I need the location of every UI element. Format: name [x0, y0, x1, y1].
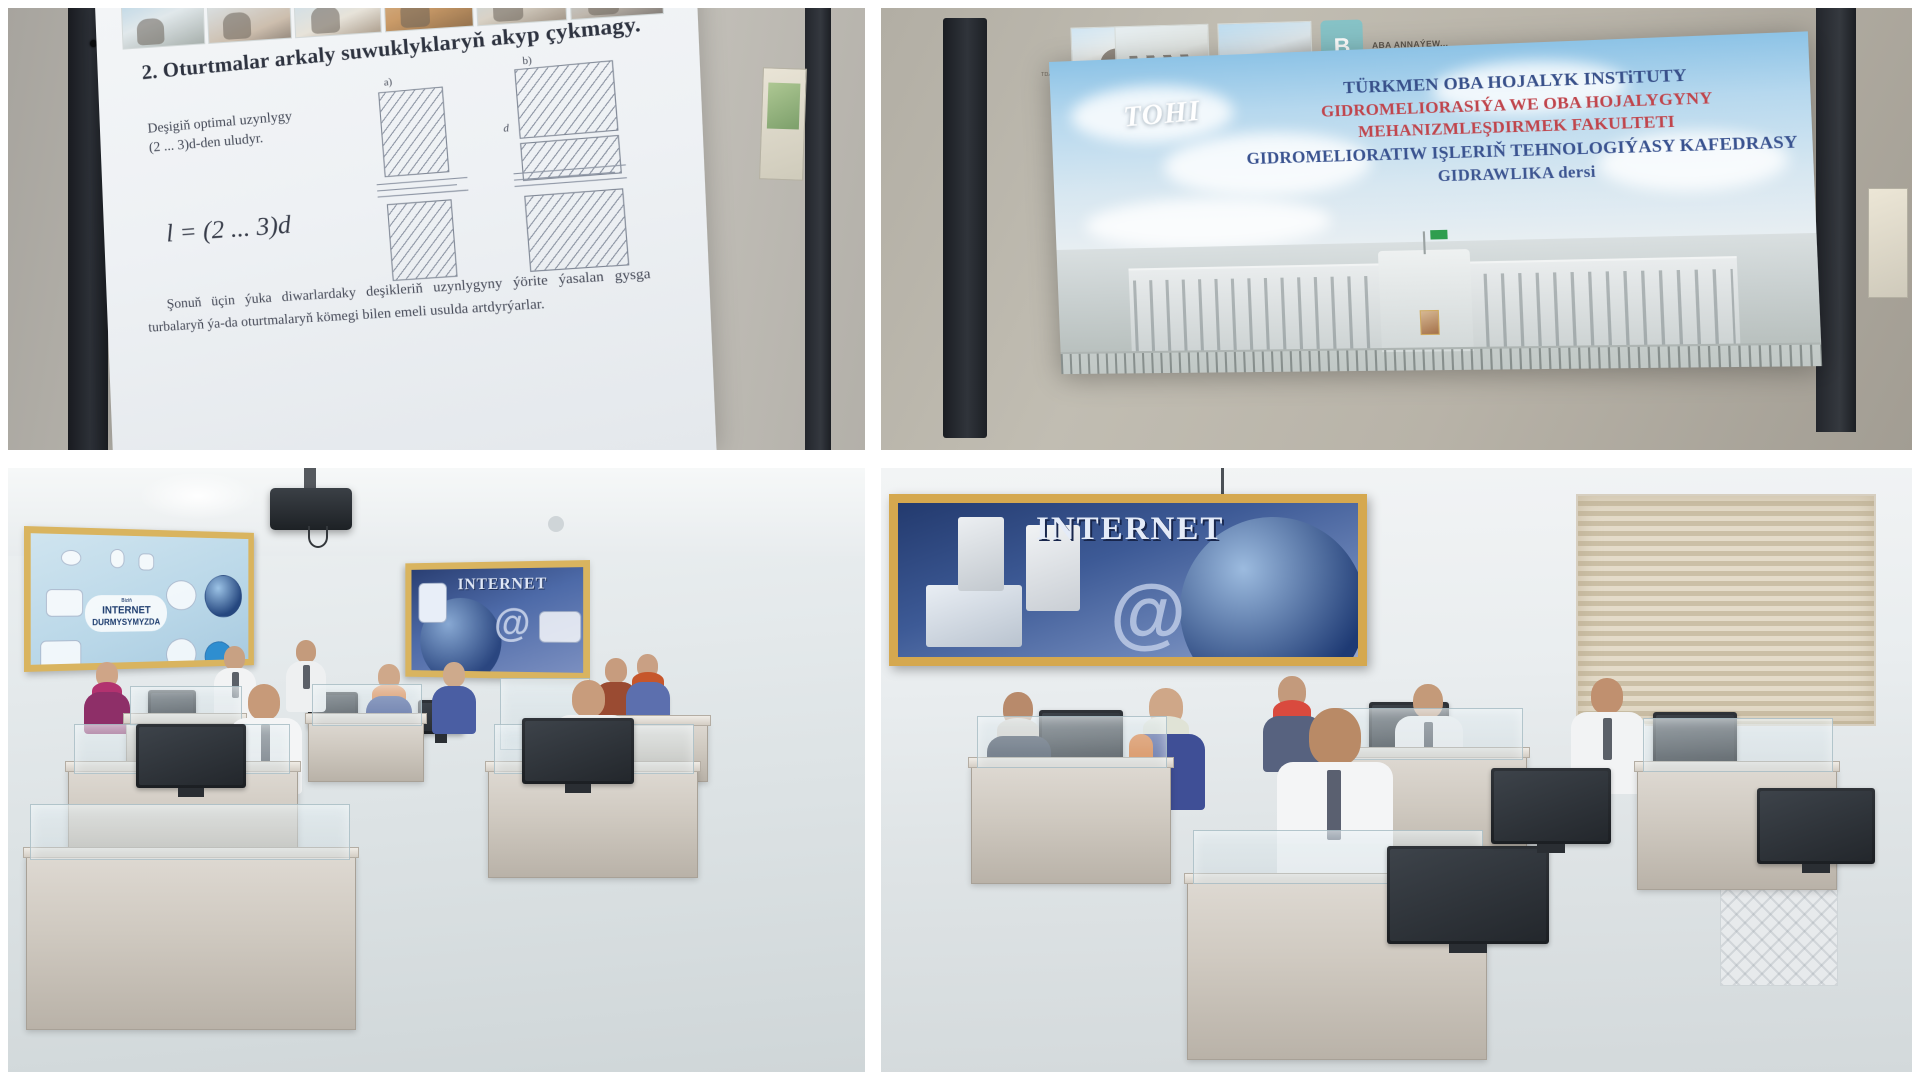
figure-hatch-block [378, 87, 449, 178]
video-tile [294, 8, 382, 38]
poster-heading: INTERNET [458, 574, 548, 594]
photo-classroom-wide: Biziň INTERNET DURMYSYMYZDA @ INTERNET [8, 468, 865, 1072]
person-head [1309, 708, 1361, 766]
poster-icon-globe [205, 575, 242, 618]
poster-icon-screen [539, 611, 581, 643]
figure-hatch-block [524, 188, 629, 272]
person-head [443, 662, 465, 687]
poster-internet: @ INTERNET [889, 494, 1367, 666]
figure-dim-label: d [503, 123, 509, 135]
video-tile [383, 8, 473, 32]
poster-icon-camera [61, 550, 81, 566]
person-head [224, 646, 245, 670]
display-right-bezel [1816, 8, 1856, 432]
building-portrait [1420, 310, 1440, 335]
poster-icon-satellite [166, 580, 196, 610]
figure-label-b: b) [522, 55, 532, 67]
poster-icon-tv [40, 640, 81, 671]
slide-formula: l = (2 ... 3)d [165, 211, 292, 248]
desk [308, 720, 424, 782]
poster-heading: INTERNET [1036, 511, 1224, 548]
poster-icon-laptop [926, 585, 1022, 647]
poster-icon-pc-tower [958, 517, 1004, 591]
wall-poster-small [1868, 188, 1908, 298]
institute-building-photo [1057, 233, 1823, 374]
person-head [1591, 678, 1623, 714]
institute-logo: TOHI [1122, 95, 1202, 135]
person-tie [303, 665, 310, 689]
slide-figure-group: a) b) d [364, 47, 680, 282]
monitor [1387, 846, 1549, 944]
person-head [248, 684, 280, 720]
poster-icon-headphones [110, 549, 124, 568]
figure-label-a: a) [383, 77, 392, 89]
video-tile [121, 8, 205, 50]
figure-hatch-block [514, 60, 618, 139]
desk-foreground [26, 854, 356, 1030]
poster-icon-statue [418, 583, 446, 623]
ceiling-projector [270, 488, 352, 530]
projected-slide: 2. Oturtmalar arkaly suwuklyklaryň akyp … [95, 8, 717, 450]
poster-caption-heading: INTERNET [102, 604, 151, 616]
monitor [136, 724, 246, 788]
person-seated [432, 662, 476, 734]
projection-screen: TOHI TÜRKMEN OBA HOJALYK INSTiTUTY GIDRO… [1049, 31, 1822, 374]
poster-caption: Biziň INTERNET DURMYSYMYZDA [85, 595, 167, 632]
display-left-bezel [943, 18, 987, 438]
panel-top-right: TDBGI B ABA ANNAÝEW... Türkmenistanyň Dö… [873, 0, 1920, 460]
panel-bottom-right: @ INTERNET [873, 460, 1920, 1080]
figure-hatch-block [387, 199, 458, 281]
desk-shield [977, 716, 1167, 768]
photo-lecture-slide: 2. Oturtmalar arkaly suwuklyklaryň akyp … [8, 8, 865, 450]
monitor [1491, 768, 1611, 844]
poster-icon-monitor [46, 589, 83, 617]
cloud-shape [1085, 195, 1333, 252]
building-center-block [1378, 249, 1473, 352]
video-tile [206, 8, 292, 44]
desk-shield [312, 684, 422, 726]
photo-classroom-close: @ INTERNET [881, 468, 1912, 1072]
person-head [572, 680, 605, 717]
slide-body-text: Deşigiň optimal uzynlygy (2 ... 3)d-den … [147, 101, 345, 157]
desk [488, 768, 698, 878]
panel-bottom-left: Biziň INTERNET DURMYSYMYZDA @ INTERNET [0, 460, 873, 1080]
person-torso [432, 686, 476, 734]
projector-lens [548, 516, 564, 532]
flag [1430, 230, 1447, 240]
at-symbol-icon: @ [494, 601, 530, 645]
photo-collage: 2. Oturtmalar arkaly suwuklyklaryň akyp … [0, 0, 1920, 1080]
monitor [1757, 788, 1875, 864]
at-symbol-icon: @ [1110, 567, 1186, 658]
slide-title-block: TÜRKMEN OBA HOJALYK INSTiTUTY GIDROMELIO… [1242, 60, 1800, 193]
monitor [522, 718, 634, 784]
photo-projected-title-slide: TDBGI B ABA ANNAÝEW... Türkmenistanyň Dö… [881, 8, 1912, 450]
poster-icon-browser [166, 638, 196, 671]
poster-icon-device [139, 553, 155, 570]
figure-flow-line [378, 190, 469, 198]
projector-cable [308, 526, 328, 548]
person-head [296, 640, 316, 663]
desk-shield [30, 804, 350, 860]
poster-caption-sub: DURMYSYMYZDA [92, 617, 160, 627]
desk-shield [1643, 718, 1833, 772]
flag-pole [1423, 231, 1426, 254]
panel-top-left: 2. Oturtmalar arkaly suwuklyklaryň akyp … [0, 0, 873, 460]
display-right-bezel [805, 8, 831, 450]
desk [971, 764, 1171, 884]
desk-shield [130, 686, 242, 726]
wall-poster-small [759, 67, 807, 180]
ceiling-light-glow [138, 472, 258, 520]
person-tie [1603, 718, 1612, 760]
